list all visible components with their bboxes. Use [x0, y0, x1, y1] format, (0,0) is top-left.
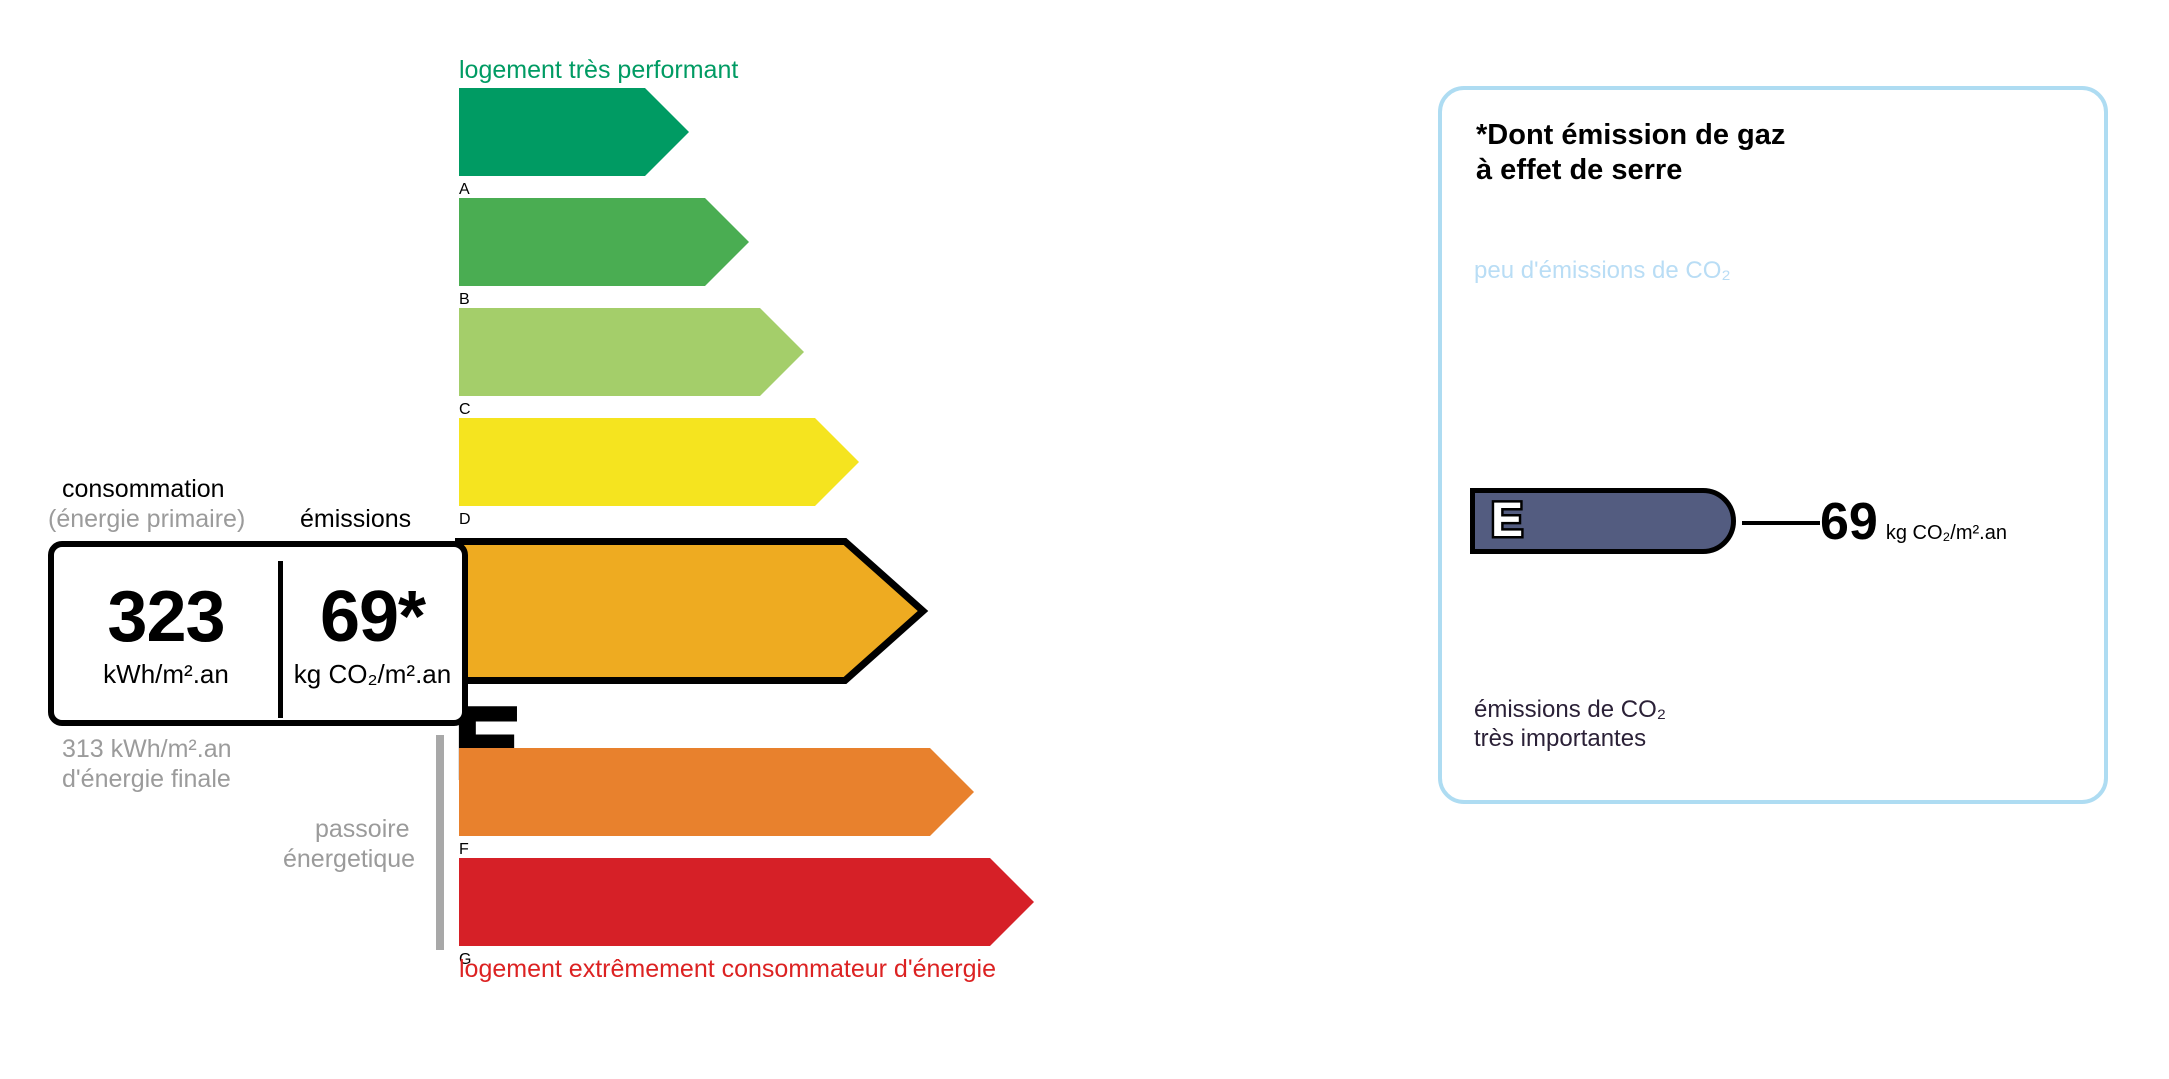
- energy-class-letter: B: [459, 291, 470, 308]
- ges-class-letter: G: [1488, 637, 1513, 669]
- ges-class-letter: B: [1488, 345, 1511, 377]
- energy-arrow-a: [459, 88, 689, 176]
- passoire-line2: énergetique: [283, 845, 415, 874]
- ges-top-label: peu d'émissions de CO₂: [1474, 257, 1731, 285]
- ges-class-letter: C: [1488, 395, 1511, 427]
- energy-arrow-b: [459, 198, 749, 286]
- energy-class-row-f: F: [459, 748, 974, 836]
- ges-class-letter-highlighted: E: [1491, 497, 1523, 545]
- consumption-caption: consommation: [62, 475, 225, 504]
- energy-arrow-d: [459, 418, 859, 506]
- final-energy-line2: d'énergie finale: [62, 765, 231, 794]
- ges-class-letter: F: [1488, 587, 1508, 619]
- ges-value: 69: [1820, 496, 1878, 548]
- ges-bottom-label: émissions de CO₂ très importantes: [1474, 696, 1666, 754]
- energy-arrow-e-highlighted: [455, 538, 935, 684]
- energy-class-letter: A: [459, 181, 470, 198]
- passoire-line1: passoire: [315, 815, 410, 844]
- energy-class-row-g: G: [459, 858, 1034, 946]
- energy-class-letter: F: [459, 841, 469, 858]
- ges-value-unit: kg CO₂/m².an: [1886, 522, 2007, 545]
- energy-class-row-b: B: [459, 198, 749, 286]
- ges-class-row-a: A: [1474, 290, 1572, 332]
- passoire-bracket: [436, 735, 444, 950]
- energy-class-row-a: A: [459, 88, 689, 176]
- consumption-value: 323: [107, 581, 224, 653]
- emissions-unit: kg CO₂/m².an: [294, 661, 451, 687]
- ges-bar-e-highlighted: E: [1470, 488, 1736, 554]
- energy-class-letter: C: [459, 401, 471, 418]
- ges-callout-value: 69kg CO₂/m².an: [1820, 496, 2007, 548]
- ges-title: *Dont émission de gaz à effet de serre: [1476, 118, 1785, 188]
- consumption-value-cell: 323 kWh/m².an: [54, 547, 278, 720]
- ges-panel: *Dont émission de gaz à effet de serre p…: [1438, 86, 2108, 804]
- energy-bottom-note: logement extrêmement consommateur d'éner…: [459, 955, 996, 984]
- ges-class-row-g: G: [1474, 632, 1779, 674]
- ges-class-row-c: C: [1474, 390, 1639, 432]
- energy-class-row-e: E: [455, 538, 935, 684]
- consumption-subcaption: (énergie primaire): [48, 505, 245, 534]
- energy-performance-diagram: logement très performant ABCDEFG logemen…: [0, 0, 1360, 1079]
- energy-top-note: logement très performant: [459, 56, 738, 85]
- energy-class-row-d: D: [459, 418, 859, 506]
- ges-class-row-f: F: [1474, 582, 1746, 624]
- value-box: 323 kWh/m².an 69* kg CO₂/m².an: [48, 541, 468, 726]
- ges-class-row-d: D: [1474, 440, 1674, 482]
- energy-arrow-g: [459, 858, 1034, 946]
- emissions-value-cell: 69* kg CO₂/m².an: [283, 547, 462, 720]
- energy-class-row-c: C: [459, 308, 804, 396]
- emissions-value: 69*: [320, 581, 425, 653]
- consumption-unit: kWh/m².an: [103, 661, 229, 687]
- ges-class-letter: D: [1488, 445, 1511, 477]
- energy-arrow-c: [459, 308, 804, 396]
- ges-class-letter: A: [1488, 295, 1511, 327]
- final-energy-line1: 313 kWh/m².an: [62, 735, 232, 764]
- energy-arrow-f: [459, 748, 974, 836]
- ges-callout-line: [1742, 521, 1820, 525]
- energy-class-letter: D: [459, 511, 471, 528]
- ges-class-row-b: B: [1474, 340, 1604, 382]
- emissions-caption: émissions: [300, 505, 411, 534]
